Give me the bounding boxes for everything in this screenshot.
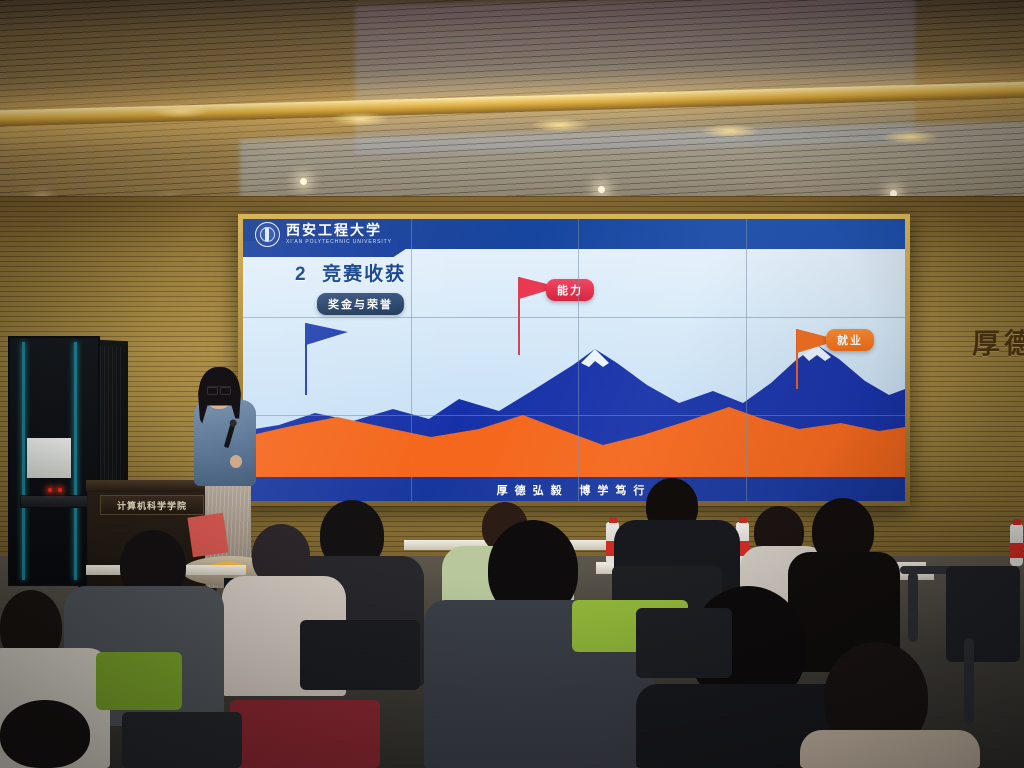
blue-flag-icon bbox=[306, 323, 350, 347]
ceiling-light-glow bbox=[150, 104, 210, 118]
video-wall-seam-h bbox=[243, 415, 905, 416]
presentation-scene: 厚德 西安工程大学 XI'AN POLYTECHNIC UNIVERSITY 2… bbox=[0, 0, 1024, 768]
ceiling-light-glow bbox=[530, 118, 590, 132]
ceiling-light-glow bbox=[330, 112, 390, 126]
chair-leg bbox=[964, 638, 974, 724]
marker-label-employment[interactable]: 就业 bbox=[826, 329, 874, 351]
video-wall-seam-h bbox=[243, 317, 905, 318]
university-name-en: XI'AN POLYTECHNIC UNIVERSITY bbox=[286, 240, 392, 245]
recessed-downlight bbox=[598, 186, 605, 193]
chair bbox=[946, 566, 1020, 662]
chair bbox=[122, 712, 242, 768]
slide-title-number: 2 bbox=[295, 264, 308, 285]
chair-red bbox=[230, 700, 380, 768]
video-wall-seam-v bbox=[578, 219, 579, 501]
wall-motto-text: 厚德 bbox=[972, 322, 1024, 362]
chair-leg bbox=[908, 572, 918, 642]
water-bottle bbox=[1010, 524, 1023, 566]
av-equipment-rack[interactable] bbox=[8, 336, 100, 586]
video-wall-seam-v bbox=[411, 219, 412, 501]
video-wall-seam-v bbox=[746, 219, 747, 501]
rack-rail bbox=[22, 342, 25, 580]
red-folder bbox=[187, 513, 228, 558]
podium-nameplate: 计算机科学学院 bbox=[100, 495, 204, 515]
mountain-range-front bbox=[243, 383, 905, 479]
presentation-slide: 西安工程大学 XI'AN POLYTECHNIC UNIVERSITY 2 竞赛… bbox=[243, 219, 905, 501]
university-logo: 西安工程大学 XI'AN POLYTECHNIC UNIVERSITY bbox=[255, 222, 392, 247]
video-wall-frame: 西安工程大学 XI'AN POLYTECHNIC UNIVERSITY 2 竞赛… bbox=[238, 214, 910, 506]
rack-led-indicator bbox=[48, 488, 52, 492]
ceiling-light-glow bbox=[880, 130, 940, 144]
ceiling bbox=[0, 0, 1024, 200]
chair bbox=[636, 608, 732, 678]
marker-label-awards[interactable]: 奖金与荣誉 bbox=[317, 293, 404, 315]
slide-footer-text: 厚德弘毅 博学笃行 bbox=[243, 482, 905, 498]
podium-nameplate-text: 计算机科学学院 bbox=[117, 499, 187, 512]
university-logo-text: 西安工程大学 XI'AN POLYTECHNIC UNIVERSITY bbox=[286, 224, 392, 245]
marker-label-ability[interactable]: 能力 bbox=[546, 279, 594, 301]
audience-head bbox=[0, 700, 90, 768]
university-name-cn: 西安工程大学 bbox=[286, 224, 392, 238]
slide-title-text: 竞赛收获 bbox=[322, 264, 406, 285]
rack-paper-note bbox=[27, 438, 71, 478]
glasses-icon bbox=[207, 386, 231, 393]
presenter-hand bbox=[230, 455, 242, 468]
video-wall[interactable]: 西安工程大学 XI'AN POLYTECHNIC UNIVERSITY 2 竞赛… bbox=[243, 219, 905, 501]
rack-rail bbox=[74, 342, 77, 580]
audience-torso bbox=[800, 730, 980, 768]
chair bbox=[300, 620, 420, 690]
university-seal-icon bbox=[255, 222, 280, 247]
slide-title: 2 竞赛收获 bbox=[295, 259, 406, 286]
ceiling-light-glow bbox=[700, 124, 760, 138]
recessed-downlight bbox=[300, 178, 307, 185]
chair-green bbox=[96, 652, 182, 710]
rack-led-indicator bbox=[58, 488, 62, 492]
rack-control-unit[interactable] bbox=[20, 495, 88, 508]
